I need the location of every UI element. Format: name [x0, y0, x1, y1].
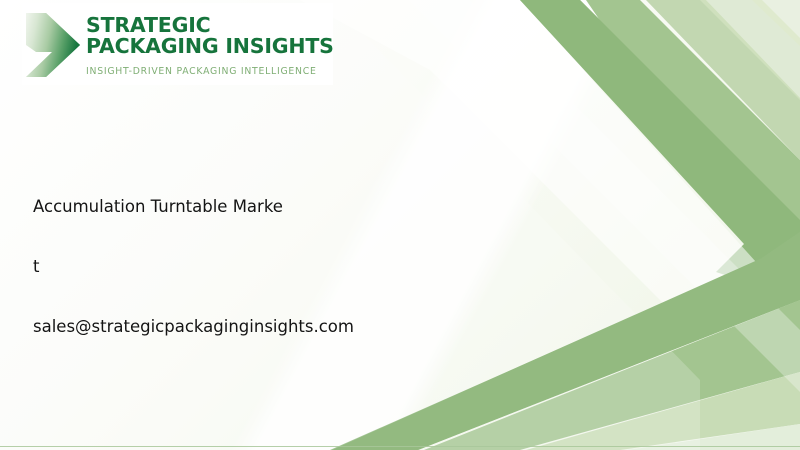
logo-title-line-1: STRATEGIC — [86, 15, 334, 36]
logo-wordmark: STRATEGIC PACKAGING INSIGHTS INSIGHT-DRI… — [86, 9, 334, 77]
report-title-overflow-line: t — [33, 256, 463, 278]
content-block: Accumulation Turntable Marke t sales@str… — [33, 196, 463, 337]
slide-canvas: STRATEGIC PACKAGING INSIGHTS INSIGHT-DRI… — [0, 0, 800, 450]
logo-title-line-2: PACKAGING INSIGHTS — [86, 36, 334, 57]
bottom-rule — [0, 446, 800, 447]
contact-email[interactable]: sales@strategicpackaginginsights.com — [33, 316, 463, 338]
report-title-line: Accumulation Turntable Marke — [33, 196, 463, 218]
company-logo: STRATEGIC PACKAGING INSIGHTS INSIGHT-DRI… — [22, 3, 333, 85]
chevron-arrow-mark — [24, 11, 82, 79]
logo-tagline: INSIGHT-DRIVEN PACKAGING INTELLIGENCE — [86, 66, 334, 77]
